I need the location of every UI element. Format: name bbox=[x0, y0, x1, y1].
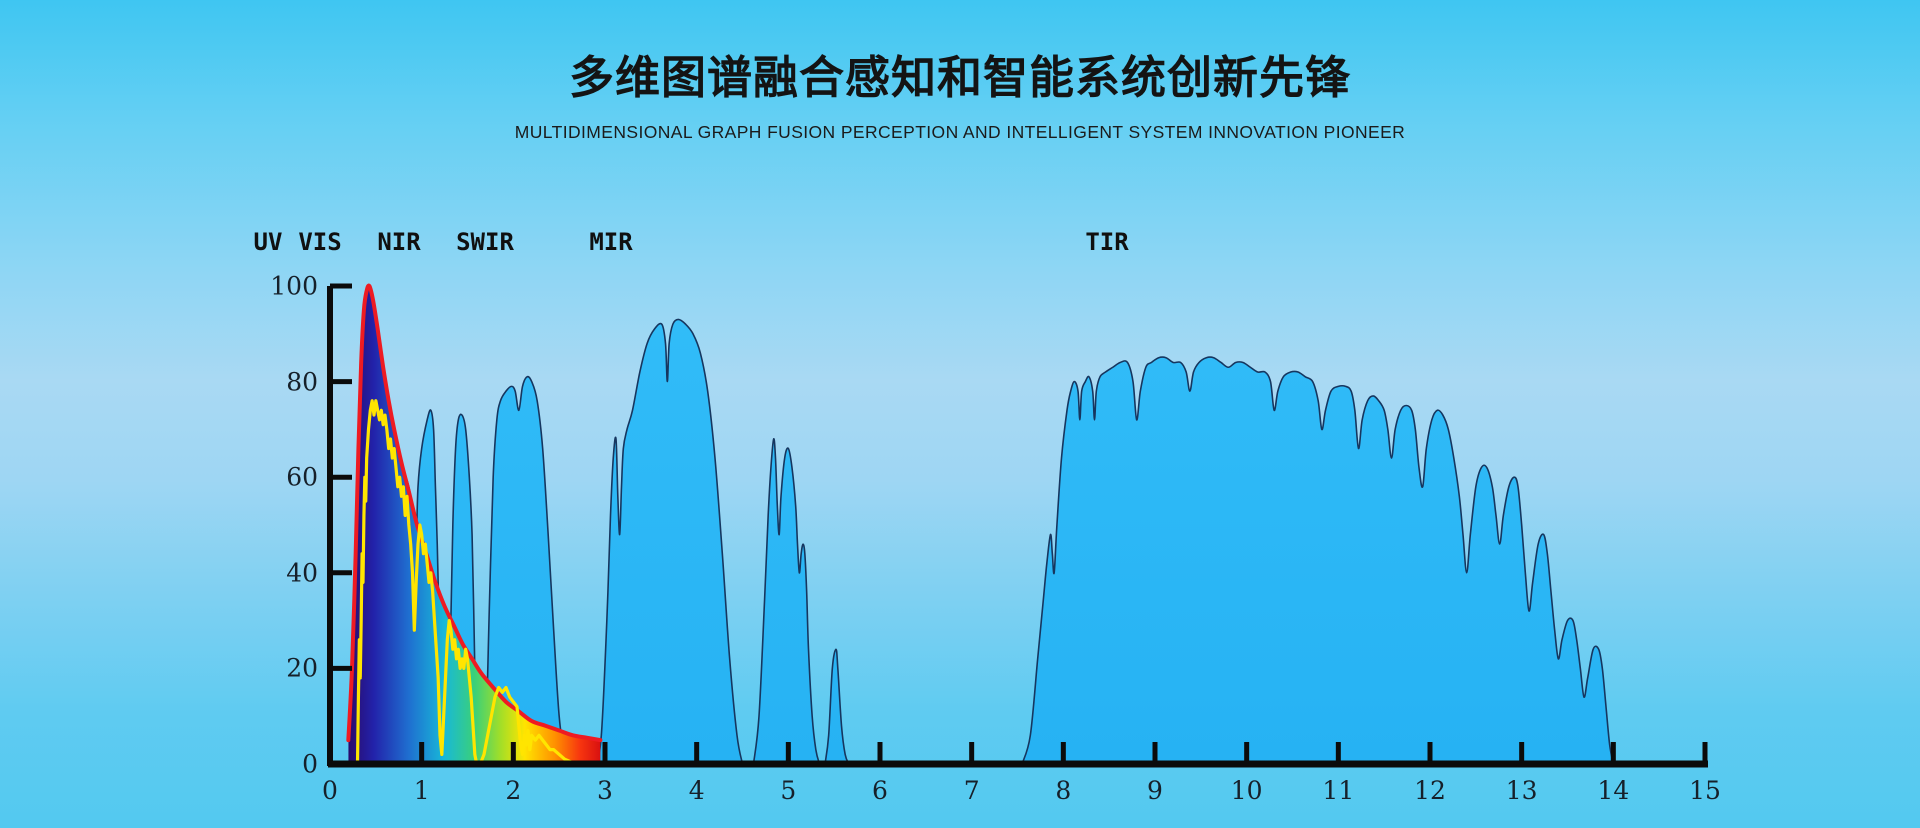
x-tick-label: 12 bbox=[1414, 776, 1446, 805]
band-label-swir: SWIR bbox=[456, 228, 514, 256]
x-tick-label: 7 bbox=[964, 776, 980, 805]
y-tick-label: 60 bbox=[286, 463, 318, 492]
y-tick-label: 0 bbox=[302, 750, 318, 779]
page-title: 多维图谱融合感知和智能系统创新先锋 bbox=[0, 52, 1920, 104]
chart-axes bbox=[328, 286, 1708, 766]
page-header: 多维图谱融合感知和智能系统创新先锋 MULTIDIMENSIONAL GRAPH… bbox=[0, 0, 1920, 143]
band-label-vis: VIS bbox=[298, 228, 341, 256]
x-tick-label: 10 bbox=[1231, 776, 1263, 805]
x-tick-label: 2 bbox=[505, 776, 521, 805]
band-label-tir: TIR bbox=[1085, 228, 1128, 256]
x-tick-label: 3 bbox=[597, 776, 613, 805]
x-tick-label: 8 bbox=[1055, 776, 1071, 805]
x-tick-label: 1 bbox=[414, 776, 430, 805]
irradiance-line bbox=[358, 401, 578, 764]
x-tick-label: 15 bbox=[1689, 776, 1721, 805]
y-tick-label: 40 bbox=[286, 558, 318, 587]
y-tick-label: 100 bbox=[270, 272, 318, 301]
band-label-nir: NIR bbox=[377, 228, 420, 256]
x-tick-label: 6 bbox=[872, 776, 888, 805]
x-tick-label: 0 bbox=[322, 776, 338, 805]
band-label-uv: UV bbox=[254, 228, 283, 256]
transmission-area bbox=[354, 319, 1614, 765]
x-axis-ticks bbox=[330, 742, 1705, 761]
x-tick-label: 13 bbox=[1506, 776, 1538, 805]
x-tick-label: 9 bbox=[1147, 776, 1163, 805]
x-tick-label: 11 bbox=[1322, 776, 1354, 805]
x-tick-label: 4 bbox=[689, 776, 705, 805]
y-tick-label: 80 bbox=[286, 367, 318, 396]
page-subtitle: MULTIDIMENSIONAL GRAPH FUSION PERCEPTION… bbox=[0, 122, 1920, 143]
y-axis-ticks bbox=[330, 286, 352, 668]
x-tick-label: 14 bbox=[1597, 776, 1629, 805]
blackbody-envelope-line bbox=[348, 286, 600, 741]
y-tick-label: 20 bbox=[286, 654, 318, 683]
band-label-mir: MIR bbox=[589, 228, 632, 256]
x-tick-label: 5 bbox=[780, 776, 796, 805]
solar-rainbow-fill bbox=[348, 266, 600, 784]
